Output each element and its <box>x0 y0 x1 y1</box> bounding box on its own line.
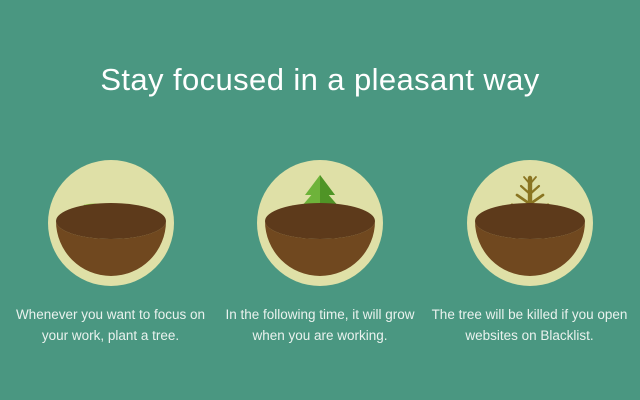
promo-slide: Stay focused in a pleasant way <box>0 0 640 400</box>
feature-card-list: Whenever you want to focus on your work,… <box>0 160 640 346</box>
dead-tree-in-soil-icon <box>467 160 593 286</box>
feature-card-grow: In the following time, it will grow when… <box>218 160 423 346</box>
page-title: Stay focused in a pleasant way <box>0 60 640 100</box>
feature-card-plant: Whenever you want to focus on your work,… <box>8 160 213 346</box>
feature-card-killed: The tree will be killed if you open webs… <box>427 160 632 346</box>
feature-card-caption: Whenever you want to focus on your work,… <box>8 304 213 346</box>
feature-card-caption: In the following time, it will grow when… <box>218 304 423 346</box>
pine-tree-in-soil-icon <box>257 160 383 286</box>
sprout-in-soil-icon <box>48 160 174 286</box>
feature-card-caption: The tree will be killed if you open webs… <box>427 304 632 346</box>
